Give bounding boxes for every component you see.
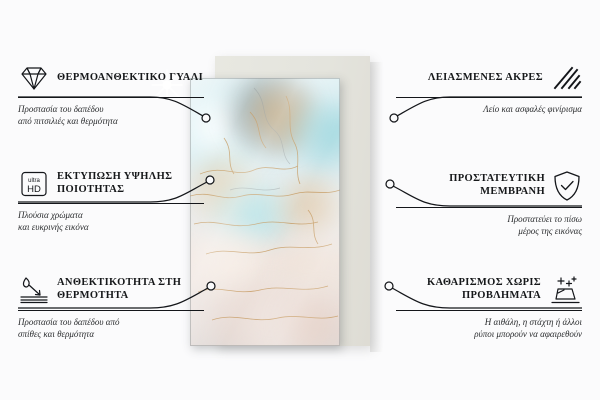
- feature-heat-durability[interactable]: ΑΝΘΕΚΤΙΚΟΤΗΤΑ ΣΤΗ ΘΕΡΜΟΤΗΤΑ Προστασία το…: [18, 275, 204, 340]
- feature-divider: [396, 97, 582, 98]
- feature-divider: [18, 97, 204, 98]
- feature-divider: [396, 207, 582, 208]
- artwork-abstract-marble: [190, 78, 340, 346]
- easy-clean-icon: [548, 275, 582, 305]
- polished-edges-icon: [550, 64, 582, 92]
- feature-divider: [18, 310, 204, 311]
- feature-heat-resistant-glass[interactable]: ΘΕΡΜΟΑΝΘΕΚΤΙΚΟ ΓΥΑΛΙ Προστασία του δαπέδ…: [18, 64, 204, 127]
- feature-divider: [396, 310, 582, 311]
- feature-title: ΛΕΙΑΣΜΕΝΕΣ ΑΚΡΕΣ: [428, 72, 543, 85]
- feature-description: Προστασία του δαπέδουαπό πιτσιλιές και θ…: [18, 103, 204, 127]
- ultra-hd-icon: ultra HD: [18, 170, 50, 198]
- feature-high-quality-print[interactable]: ultra HD ΕΚΤΥΠΩΣΗ ΥΨΗΛΗΣ ΠΟΙΟΤΗΤΑΣ Πλούσ…: [18, 170, 204, 233]
- heat-resistance-icon: [18, 275, 50, 305]
- feature-easy-cleaning[interactable]: ΚΑΘΑΡΙΣΜΟΣ ΧΩΡΙΣ ΠΡΟΒΛΗΜΑΤΑ Η αιθάλη, η …: [396, 275, 582, 340]
- feature-description: Προστασία του δαπέδου απόσπίθες και θερμ…: [18, 316, 204, 340]
- product-glass-panel: [190, 78, 340, 346]
- feature-title: ΠΡΟΣΤΑΤΕΥΤΙΚΗ ΜΕΜΒΡΑΝΗ: [396, 173, 545, 199]
- artwork-gold-veins: [190, 78, 340, 346]
- feature-protective-film[interactable]: ΠΡΟΣΤΑΤΕΥΤΙΚΗ ΜΕΜΒΡΑΝΗ Προστατεύει το πί…: [396, 170, 582, 237]
- shield-check-icon: [552, 170, 582, 202]
- feature-divider: [18, 203, 204, 204]
- feature-title: ΑΝΘΕΚΤΙΚΟΤΗΤΑ ΣΤΗ ΘΕΡΜΟΤΗΤΑ: [57, 277, 204, 303]
- feature-description: Προστατεύει το πίσωμέρος της εικόνας: [396, 213, 582, 237]
- ultra-hd-badge-bottom: HD: [27, 184, 41, 195]
- feature-description: Η αιθάλη, η στάχτη ή άλλοιρύποι μπορούν …: [396, 316, 582, 340]
- feature-polished-edges[interactable]: ΛΕΙΑΣΜΕΝΕΣ ΑΚΡΕΣ Λείο και ασφαλές φινίρι…: [396, 64, 582, 115]
- feature-description: Λείο και ασφαλές φινίρισμα: [396, 103, 582, 115]
- diamond-icon: [18, 64, 50, 92]
- feature-title: ΚΑΘΑΡΙΣΜΟΣ ΧΩΡΙΣ ΠΡΟΒΛΗΜΑΤΑ: [396, 277, 541, 303]
- feature-title: ΘΕΡΜΟΑΝΘΕΚΤΙΚΟ ΓΥΑΛΙ: [57, 72, 203, 85]
- feature-title: ΕΚΤΥΠΩΣΗ ΥΨΗΛΗΣ ΠΟΙΟΤΗΤΑΣ: [57, 171, 204, 197]
- infographic-stage: ΘΕΡΜΟΑΝΘΕΚΤΙΚΟ ΓΥΑΛΙ Προστασία του δαπέδ…: [0, 0, 600, 400]
- feature-description: Πλούσια χρώματακαι ευκρινής εικόνα: [18, 209, 204, 233]
